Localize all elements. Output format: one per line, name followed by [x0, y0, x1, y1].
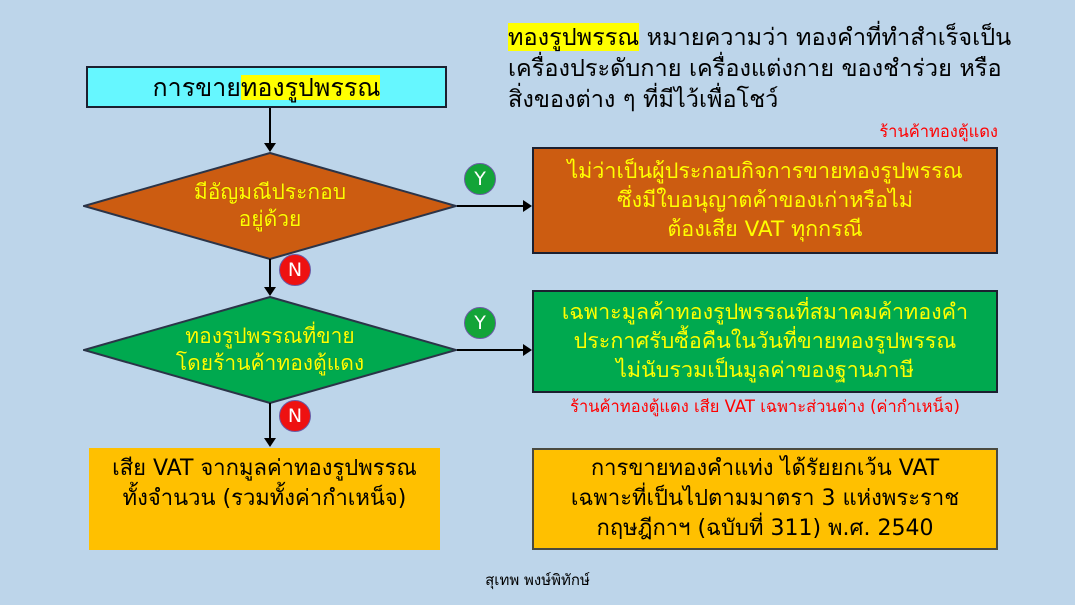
result-box-green: เฉพาะมูลค้าทองรูปพรรณที่สมาคมค้าทองคำ ปร… [532, 290, 998, 393]
arrow-decision2-to-bottom-left [264, 438, 276, 447]
arrow-decision2-to-green [523, 344, 532, 356]
arrow-title-to-decision1 [264, 143, 276, 152]
connector-decision2-to-bottom-left [269, 403, 271, 439]
decision-gemstone-label: มีอัญมณีประกอบ อยู่ด้วย [83, 152, 457, 260]
badge-no-decision2: N [279, 400, 311, 432]
connector-title-to-decision1 [269, 108, 271, 144]
badge-yes-decision2: Y [464, 307, 496, 339]
title-plain-text: การขาย [153, 75, 241, 100]
footer-author: สุเทพ พงษ์พิทักษ์ [0, 568, 1075, 592]
outcome-box-full-vat: เสีย VAT จากมูลค่าทองรูปพรรณ ทั้งจำนวน (… [89, 448, 440, 550]
decision-red-cabinet-shop-label: ทองรูปพรรณที่ขาย โดยร้านค้าทองตู้แดง [83, 296, 457, 404]
intro-highlighted-term: ทองรูปพรรณ [508, 23, 639, 51]
note-red-cabinet-shop-top: ร้านค้าทองตู้แดง [700, 122, 998, 142]
intro-paragraph: ทองรูปพรรณ หมายความว่า ทองคำที่ทำสำเร็จเ… [508, 22, 1038, 115]
connector-decision2-to-green [457, 349, 525, 351]
decision-gemstone: มีอัญมณีประกอบ อยู่ด้วย [83, 152, 457, 260]
decision-red-cabinet-shop: ทองรูปพรรณที่ขาย โดยร้านค้าทองตู้แดง [83, 296, 457, 404]
title-highlighted-text: ทองรูปพรรณ [241, 75, 381, 100]
badge-no-decision1: N [279, 254, 311, 286]
slide-canvas: ทองรูปพรรณ หมายความว่า ทองคำที่ทำสำเร็จเ… [0, 0, 1075, 605]
arrow-decision1-to-decision2 [264, 287, 276, 296]
arrow-decision1-to-orange [523, 200, 532, 212]
outcome-box-gold-bar-exemption: การขายทองคำแท่ง ได้รัยยกเว้น VAT เฉพาะที… [532, 448, 998, 550]
connector-decision1-to-orange [457, 205, 525, 207]
badge-yes-decision1: Y [464, 163, 496, 195]
title-box: การขายทองรูปพรรณ [86, 66, 447, 108]
result-box-orange: ไม่ว่าเป็นผู้ประกอบกิจการขายทองรูปพรรณ ซ… [532, 147, 998, 254]
connector-decision1-to-decision2 [269, 259, 271, 288]
note-red-cabinet-shop-vat-difference: ร้านค้าทองตู้แดง เสีย VAT เฉพาะส่วนต่าง … [532, 397, 998, 417]
